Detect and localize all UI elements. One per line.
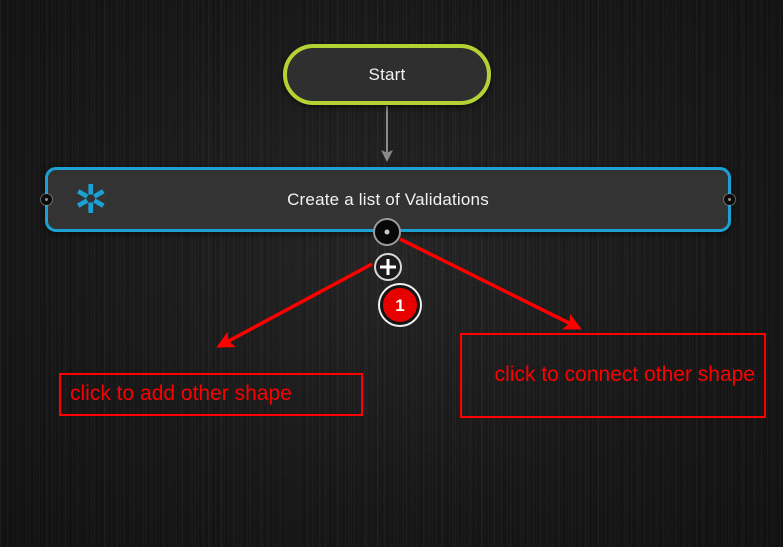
annotation-arrow-add <box>225 264 372 343</box>
connection-point-left[interactable] <box>41 194 52 205</box>
add-shape-button[interactable] <box>374 253 402 281</box>
annotation-callout-connect-shape: click to connect other shape <box>460 333 766 418</box>
annotation-callout-add-shape: click to add other shape <box>59 373 363 416</box>
step-badge: 1 <box>380 285 420 325</box>
shape-start-label: Start <box>369 65 406 85</box>
annotation-callout-add-shape-text: click to add other shape <box>70 381 292 407</box>
shape-start[interactable]: Start <box>283 44 491 105</box>
shape-task-label: Create a list of Validations <box>287 190 489 210</box>
annotation-callout-connect-shape-text: click to connect other shape <box>495 362 755 388</box>
connection-point-right[interactable] <box>724 194 735 205</box>
diagram-canvas[interactable]: Start ✲ Create a list of Validations 1 c… <box>0 0 783 547</box>
annotation-arrow-connect <box>400 239 573 325</box>
step-badge-number: 1 <box>395 297 404 314</box>
connection-drag-handle-bottom[interactable] <box>373 218 401 246</box>
plus-icon-vertical <box>387 259 390 275</box>
asterisk-icon: ✲ <box>74 180 108 220</box>
